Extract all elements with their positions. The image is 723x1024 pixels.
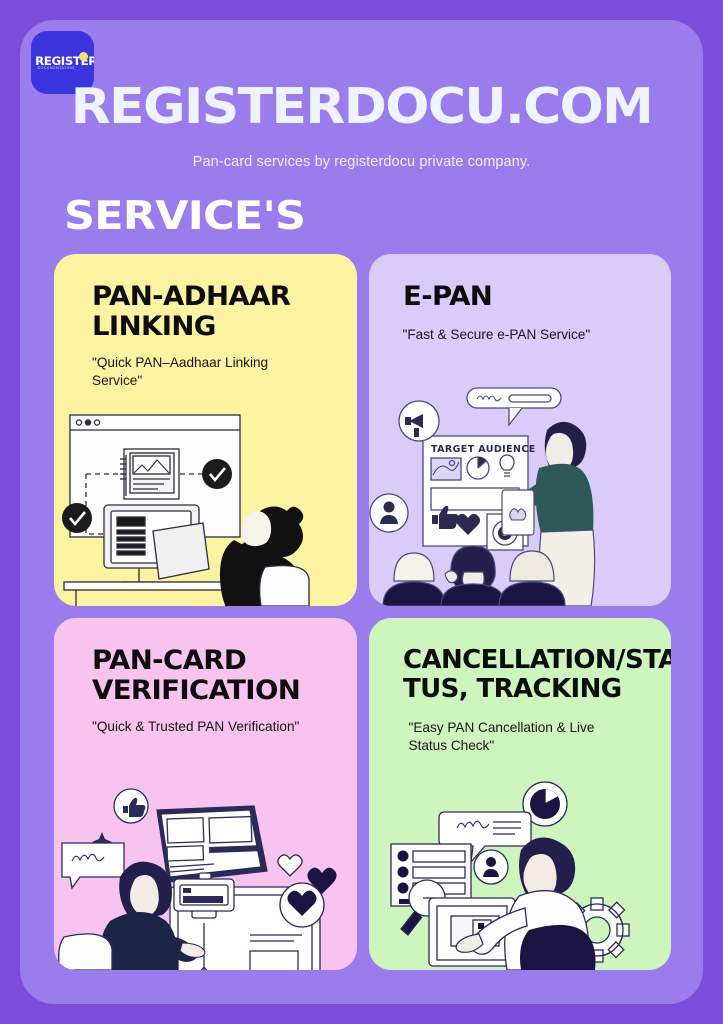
service-card-title: E-PAN <box>403 282 658 312</box>
services-grid: PAN-ADHAAR LINKING "Quick PAN–Aadhaar Li… <box>54 254 671 970</box>
yellow-dot-icon <box>79 52 88 61</box>
service-card-title: PAN-CARD VERIFICATION <box>92 646 347 706</box>
service-card-subtitle: "Easy PAN Cancellation & Live Status Che… <box>409 719 634 755</box>
service-card-e-pan[interactable]: E-PAN "Fast & Secure e-PAN Service" <box>369 254 672 606</box>
service-card-pan-adhaar-linking[interactable]: PAN-ADHAAR LINKING "Quick PAN–Aadhaar Li… <box>54 254 357 606</box>
section-heading: SERVICE'S <box>64 197 305 236</box>
service-card-title: CANCELLATION/STA-TUS, TRACKING <box>403 646 658 704</box>
service-card-title: PAN-ADHAAR LINKING <box>92 282 347 342</box>
page-title: REGISTERDOCU.COM <box>20 82 703 131</box>
illustration-board-label: TARGET AUDIENCE <box>431 444 536 455</box>
service-card-subtitle: "Quick PAN–Aadhaar Linking Service" <box>92 354 317 390</box>
service-card-subtitle: "Quick & Trusted PAN Verification" <box>92 718 317 736</box>
page-subtitle: Pan-card services by registerdocu privat… <box>20 154 703 170</box>
service-card-pan-card-verification[interactable]: PAN-CARD VERIFICATION "Quick & Trusted P… <box>54 618 357 970</box>
brand-logo-subtext: DOCUMENTATION <box>38 66 75 70</box>
poster-inner-panel: REGISTER DOCUMENTATION REGISTERDOCU.COM … <box>20 20 703 1004</box>
brand-logo-inner: REGISTER DOCUMENTATION <box>35 50 91 76</box>
service-card-cancellation-status-tracking[interactable]: CANCELLATION/STA-TUS, TRACKING "Easy PAN… <box>369 618 672 970</box>
poster-header: REGISTER DOCUMENTATION REGISTERDOCU.COM … <box>20 20 703 188</box>
service-card-subtitle: "Fast & Secure e-PAN Service" <box>403 326 628 344</box>
poster-root: REGISTER DOCUMENTATION REGISTERDOCU.COM … <box>0 0 723 1024</box>
